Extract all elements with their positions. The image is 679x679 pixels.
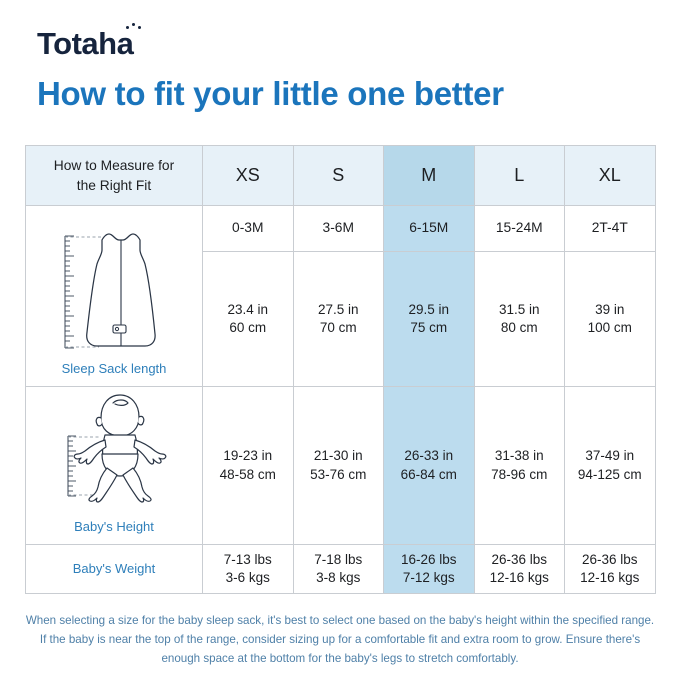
height-xl-cm: 94-125 cm [565, 466, 655, 484]
weight-s: 7-18 lbs 3-8 kgs [293, 545, 384, 594]
length-l: 31.5 in 80 cm [474, 252, 565, 387]
length-m-in: 29.5 in [384, 301, 474, 319]
baby-illustration-stack: Baby's Height [26, 387, 202, 544]
length-xl-in: 39 in [565, 301, 655, 319]
weight-xs: 7-13 lbs 3-6 kgs [203, 545, 294, 594]
baby-weight-label-cell: Baby's Weight [26, 545, 203, 594]
height-xs-cm: 48-58 cm [203, 466, 293, 484]
sleep-sack-illustration-stack: Sleep Sack length [26, 206, 202, 386]
height-l-cm: 78-96 cm [475, 466, 565, 484]
table-row-baby-weight: Baby's Weight 7-13 lbs 3-6 kgs 7-18 lbs … [26, 545, 656, 594]
umlaut-dots-icon [125, 23, 151, 33]
weight-xs-kgs: 3-6 kgs [203, 569, 293, 587]
baby-illustration-icon [39, 388, 189, 514]
measure-header-line1: How to Measure for [54, 158, 174, 173]
length-l-cm: 80 cm [475, 319, 565, 337]
column-header-xl[interactable]: XL [565, 146, 656, 206]
column-header-s[interactable]: S [293, 146, 384, 206]
height-xl: 37-49 in 94-125 cm [565, 387, 656, 545]
length-xs: 23.4 in 60 cm [203, 252, 294, 387]
age-l: 15-24M [474, 206, 565, 252]
measure-header-line2: the Right Fit [77, 178, 151, 193]
length-s: 27.5 in 70 cm [293, 252, 384, 387]
length-xl-cm: 100 cm [565, 319, 655, 337]
height-l: 31-38 in 78-96 cm [474, 387, 565, 545]
weight-xl-kgs: 12-16 kgs [565, 569, 655, 587]
length-s-cm: 70 cm [294, 319, 384, 337]
baby-height-label: Baby's Height [74, 518, 154, 536]
note-line-1: When selecting a size for the baby sleep… [26, 614, 618, 627]
height-m-in: 26-33 in [384, 447, 474, 465]
weight-m-lbs: 16-26 lbs [384, 551, 474, 569]
weight-s-lbs: 7-18 lbs [294, 551, 384, 569]
length-m: 29.5 in 75 cm [384, 252, 475, 387]
height-m-cm: 66-84 cm [384, 466, 474, 484]
column-header-measure: How to Measure for the Right Fit [26, 146, 203, 206]
size-chart-table: How to Measure for the Right Fit XS S M … [25, 145, 656, 594]
weight-s-kgs: 3-8 kgs [294, 569, 384, 587]
column-header-xs[interactable]: XS [203, 146, 294, 206]
baby-illustration-cell: Baby's Height [26, 387, 203, 545]
page-title: How to fit your little one better [37, 75, 504, 113]
column-header-l[interactable]: L [474, 146, 565, 206]
baby-weight-label: Baby's Weight [73, 561, 155, 576]
height-l-in: 31-38 in [475, 447, 565, 465]
height-m: 26-33 in 66-84 cm [384, 387, 475, 545]
height-xl-in: 37-49 in [565, 447, 655, 465]
height-xs-in: 19-23 in [203, 447, 293, 465]
table-row-age: Sleep Sack length 0-3M 3-6M 6-15M 15-24M… [26, 206, 656, 252]
length-l-in: 31.5 in [475, 301, 565, 319]
height-xs: 19-23 in 48-58 cm [203, 387, 294, 545]
table-header: How to Measure for the Right Fit XS S M … [26, 146, 656, 206]
sleep-sack-illustration-icon [39, 228, 189, 356]
weight-l: 26-36 lbs 12-16 kgs [474, 545, 565, 594]
sleep-sack-illustration-cell: Sleep Sack length [26, 206, 203, 387]
weight-m-kgs: 7-12 kgs [384, 569, 474, 587]
length-xs-in: 23.4 in [203, 301, 293, 319]
weight-xl-lbs: 26-36 lbs [565, 551, 655, 569]
brand-logo: Totaha [37, 28, 133, 59]
height-s-in: 21-30 in [294, 447, 384, 465]
length-m-cm: 75 cm [384, 319, 474, 337]
weight-l-lbs: 26-36 lbs [475, 551, 565, 569]
weight-m: 16-26 lbs 7-12 kgs [384, 545, 475, 594]
size-chart-page: Totaha How to fit your little one better… [0, 0, 679, 679]
age-xs: 0-3M [203, 206, 294, 252]
weight-xl: 26-36 lbs 12-16 kgs [565, 545, 656, 594]
sleep-sack-length-label: Sleep Sack length [62, 360, 167, 378]
weight-xs-lbs: 7-13 lbs [203, 551, 293, 569]
length-xs-cm: 60 cm [203, 319, 293, 337]
age-xl: 2T-4T [565, 206, 656, 252]
length-s-in: 27.5 in [294, 301, 384, 319]
weight-l-kgs: 12-16 kgs [475, 569, 565, 587]
size-chart-table-wrapper: How to Measure for the Right Fit XS S M … [25, 145, 655, 594]
age-m: 6-15M [384, 206, 475, 252]
column-header-m[interactable]: M [384, 146, 475, 206]
age-s: 3-6M [293, 206, 384, 252]
fit-guidance-note: When selecting a size for the baby sleep… [25, 612, 655, 668]
table-row-baby-height: Baby's Height 19-23 in 48-58 cm 21-30 in… [26, 387, 656, 545]
length-xl: 39 in 100 cm [565, 252, 656, 387]
table-body: Sleep Sack length 0-3M 3-6M 6-15M 15-24M… [26, 206, 656, 594]
height-s-cm: 53-76 cm [294, 466, 384, 484]
brand-name: Totaha [37, 26, 133, 61]
height-s: 21-30 in 53-76 cm [293, 387, 384, 545]
table-header-row: How to Measure for the Right Fit XS S M … [26, 146, 656, 206]
